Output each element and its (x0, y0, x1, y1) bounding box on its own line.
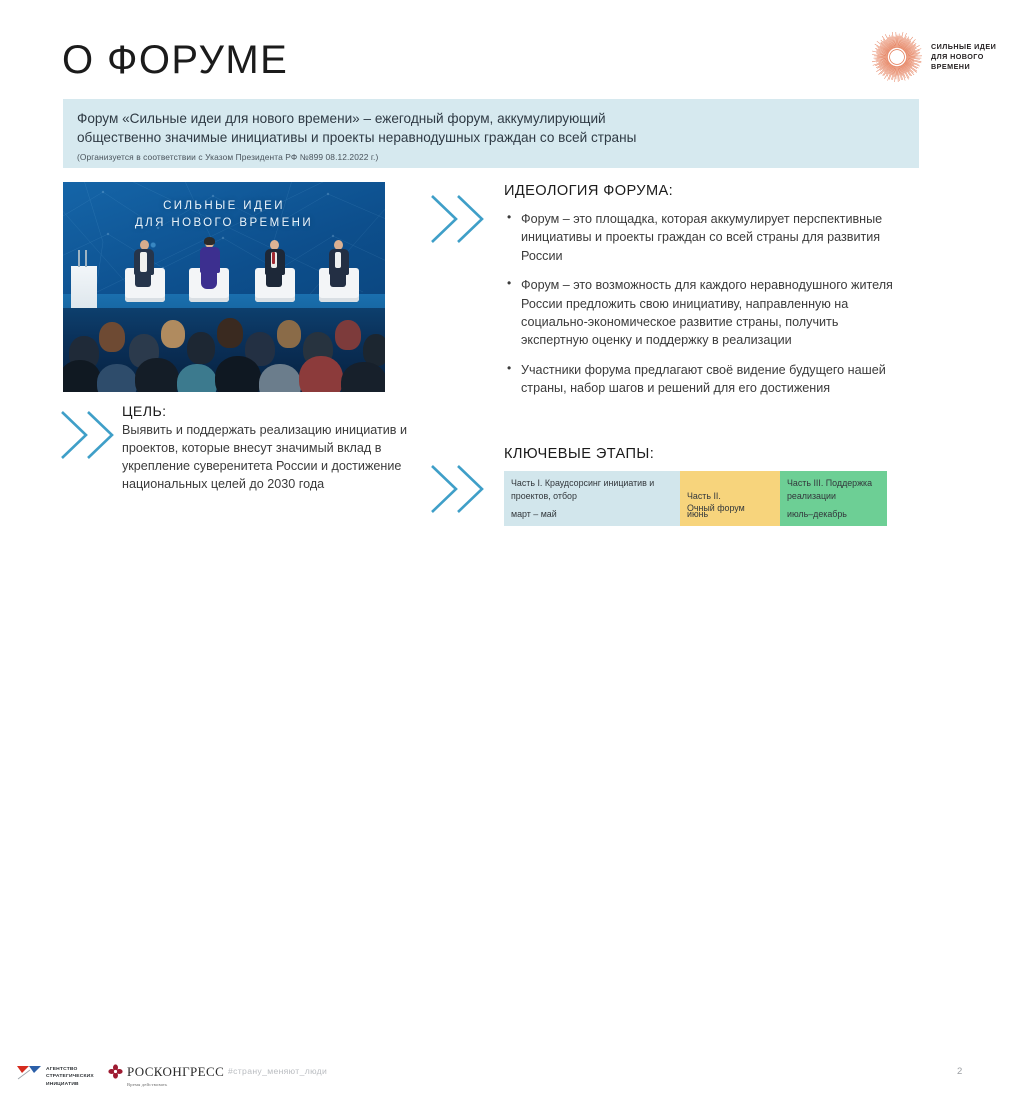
slide-root: СИЛЬНЫЕ ИДЕИ ДЛЯ НОВОГО ВРЕМЕНИ О ФОРУМЕ… (0, 0, 1024, 576)
roscongress-name: РОСКОНГРЕСС (127, 1064, 224, 1079)
stage-cell-part1: Часть I. Краудсорсинг инициатив и проект… (504, 471, 680, 526)
chevron-ideology (428, 192, 490, 246)
banner-line-1: Форум «Сильные идеи для нового времени» … (77, 109, 905, 128)
footer: АГЕНТСТВО СТРАТЕГИЧЕСКИХ ИНИЦИАТИВ РОСКО… (0, 526, 1024, 576)
radial-burst-logo-icon (872, 32, 922, 82)
intro-banner: Форум «Сильные идеи для нового времени» … (63, 99, 919, 168)
banner-note: (Организуется в соответствии с Указом Пр… (77, 152, 905, 162)
banner-line-2: общественно значимые инициативы и проект… (77, 128, 905, 147)
audience (63, 308, 385, 392)
stage-period: июль–декабрь (787, 508, 847, 521)
list-item: Форум – это площадка, которая аккумулиру… (504, 210, 896, 265)
chevron-goal (58, 408, 120, 462)
stage-label: Часть I. Краудсорсинг инициатив и проект… (511, 478, 654, 501)
ideology-section: ИДЕОЛОГИЯ ФОРУМА: Форум – это площадка, … (504, 183, 896, 408)
page-title: О ФОРУМЕ (62, 38, 288, 83)
stage-cell-part2: Часть II. Очный форум июнь (680, 471, 780, 526)
chevron-stages (428, 462, 490, 516)
goal-title: ЦЕЛЬ: (122, 404, 412, 420)
forum-photo: СИЛЬНЫЕ ИДЕИ ДЛЯ НОВОГО ВРЕМЕНИ (63, 182, 385, 392)
stage-cell-part3: Часть III. Поддержка реализации июль–дек… (780, 471, 887, 526)
asi-name: АГЕНТСТВО СТРАТЕГИЧЕСКИХ ИНИЦИАТИВ (46, 1066, 94, 1088)
roscongress-tagline: Время действовать (127, 1083, 224, 1088)
stage-period: июнь (687, 508, 708, 521)
page-number: 2 (957, 1066, 962, 1077)
stage-period: март – май (511, 508, 557, 521)
photo-backdrop-text: СИЛЬНЫЕ ИДЕИ ДЛЯ НОВОГО ВРЕМЕНИ (63, 198, 385, 233)
ideology-title: ИДЕОЛОГИЯ ФОРУМА: (504, 183, 896, 199)
stages-title: КЛЮЧЕВЫЕ ЭТАПЫ: (504, 446, 896, 462)
brand-name: СИЛЬНЫЕ ИДЕИ ДЛЯ НОВОГО ВРЕМЕНИ (931, 42, 996, 73)
goal-text: Выявить и поддержать реализацию инициати… (122, 421, 412, 494)
brand-logo: СИЛЬНЫЕ ИДЕИ ДЛЯ НОВОГО ВРЕМЕНИ (872, 28, 1012, 86)
roscongress-logo: РОСКОНГРЕСС Время действовать (108, 1064, 224, 1087)
stages-section: КЛЮЧЕВЫЕ ЭТАПЫ: Часть I. Краудсорсинг ин… (504, 446, 896, 526)
stages-table: Часть I. Краудсорсинг инициатив и проект… (504, 471, 887, 526)
ideology-bullet-list: Форум – это площадка, которая аккумулиру… (504, 210, 896, 397)
roscongress-flower-logo-icon (108, 1064, 123, 1084)
goal-section: ЦЕЛЬ: Выявить и поддержать реализацию ин… (122, 404, 412, 494)
list-item: Форум – это возможность для каждого нера… (504, 276, 896, 350)
hashtag: #страну_меняют_люди (228, 1066, 327, 1076)
asi-logo: АГЕНТСТВО СТРАТЕГИЧЕСКИХ ИНИЦИАТИВ (16, 1060, 108, 1094)
list-item: Участники форума предлагают своё видение… (504, 361, 896, 398)
asi-arrows-logo-icon (16, 1064, 42, 1091)
stage-label: Часть III. Поддержка реализации (787, 478, 872, 501)
